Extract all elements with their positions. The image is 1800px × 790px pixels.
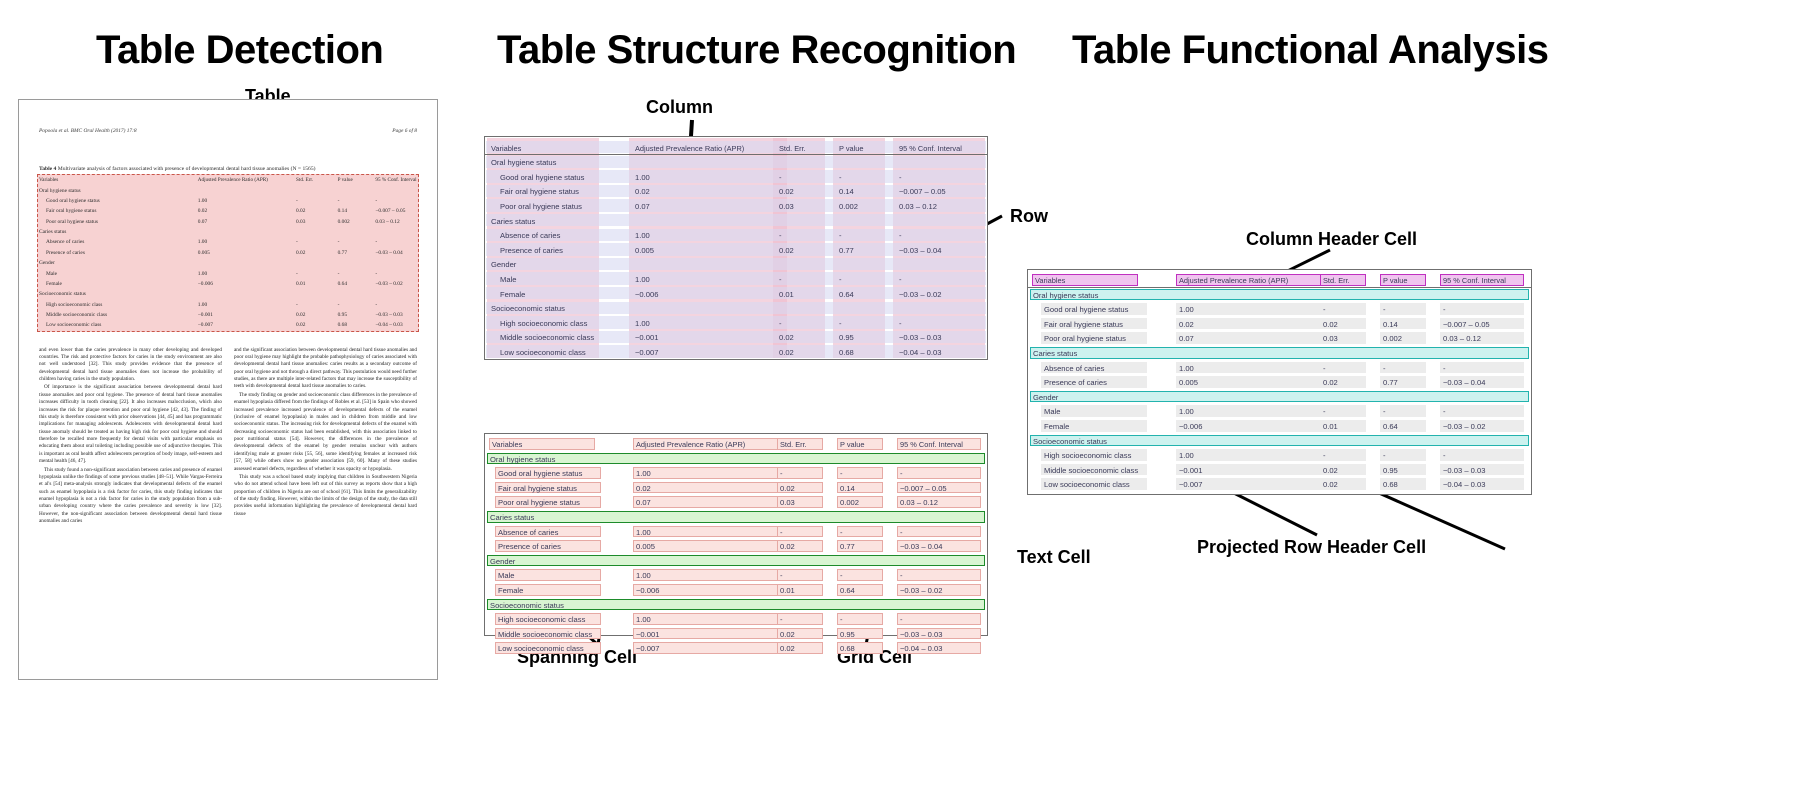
body-paragraph: Of importance is the significant associa… <box>39 384 222 465</box>
grid-cell <box>198 258 296 268</box>
grid-cell <box>1440 405 1524 417</box>
text-cell-label: −0.03 – 0.04 <box>900 542 942 551</box>
row-band <box>486 156 986 168</box>
projected-row-header-cell: Socioeconomic status <box>491 304 565 313</box>
text-cell-label: - <box>780 528 783 537</box>
grid-cell: 1.00 <box>198 237 296 247</box>
grid-cell-label: - <box>1383 305 1386 314</box>
grid-cell <box>1380 449 1426 461</box>
text-cell-label: −0.03 – 0.02 <box>900 586 942 595</box>
grid-cell: 0.03 <box>779 202 794 211</box>
column-header-cell: Std. Err. <box>296 175 338 185</box>
column-header-cell-label: Adjusted Prevalence Ratio (APR) <box>636 440 745 449</box>
table-row: Absence of caries1.00--- <box>39 237 417 247</box>
text-cell-label: −0.001 <box>636 630 659 639</box>
column-header-cell: Adjusted Prevalence Ratio (APR) <box>198 175 296 185</box>
text-cell-label: Fair oral hygiene status <box>498 484 577 493</box>
text-cell-label: 0.02 <box>780 630 795 639</box>
grid-cell <box>198 185 296 195</box>
grid-cell <box>375 289 417 299</box>
projected-row-header-cell-label: Socioeconomic status <box>1033 437 1107 446</box>
grid-cell: - <box>296 268 338 278</box>
projected-row-header-cell-label: Gender <box>1033 393 1058 402</box>
text-cell-label: - <box>780 615 783 624</box>
grid-cell: Fair oral hygiene status <box>500 187 579 196</box>
text-cell-label: 0.77 <box>840 542 855 551</box>
table-row: VariablesAdjusted Prevalence Ratio (APR)… <box>39 175 417 185</box>
grid-cell <box>1176 449 1326 461</box>
row-band <box>486 272 986 284</box>
grid-cell: 0.02 <box>779 246 794 255</box>
text-cell <box>633 482 783 494</box>
grid-cell <box>198 227 296 237</box>
projected-row-header-cell: Caries status <box>491 217 535 226</box>
text-cell <box>897 613 981 625</box>
text-cell <box>633 569 783 581</box>
grid-cell-label: - <box>1323 305 1326 314</box>
grid-cell-label: 0.02 <box>1323 480 1338 489</box>
header-rule <box>485 154 987 155</box>
grid-cell: 0.95 <box>338 310 376 320</box>
text-cell-label: −0.007 – 0.05 <box>900 484 947 493</box>
body-paragraph: and even lower than the caries prevalenc… <box>39 347 222 384</box>
grid-cell-label: 1.00 <box>1179 364 1194 373</box>
grid-cell-label: −0.03 – 0.02 <box>1443 422 1485 431</box>
grid-cell: - <box>779 231 782 240</box>
grid-cell-label: - <box>1443 364 1446 373</box>
annotation-row: Row <box>1010 206 1048 227</box>
grid-cell: 0.07 <box>635 202 650 211</box>
text-cell-label: 0.07 <box>636 498 651 507</box>
document-body-text: and even lower than the caries prevalenc… <box>39 347 417 527</box>
grid-cell: - <box>296 299 338 309</box>
grid-cell: 0.002 <box>839 202 858 211</box>
projected-row-header-cell-label: Oral hygiene status <box>1033 291 1098 300</box>
panel-title-table-functional-analysis: Table Functional Analysis <box>1072 28 1548 73</box>
text-cell <box>837 613 883 625</box>
grid-cell: 0.03 <box>296 216 338 226</box>
column-header-cell: 95 % Conf. Interval <box>899 144 962 153</box>
text-cell-label: Absence of caries <box>498 528 558 537</box>
grid-cell: −0.03 – 0.02 <box>899 290 941 299</box>
text-cell <box>777 526 823 538</box>
grid-cell: - <box>899 173 902 182</box>
grid-cell-label: 0.14 <box>1383 320 1398 329</box>
grid-cell <box>1440 362 1524 374</box>
header-rule <box>1028 287 1531 288</box>
grid-cell-label: 1.00 <box>1179 451 1194 460</box>
text-cell-label: −0.03 – 0.03 <box>900 630 942 639</box>
grid-cell: 0.14 <box>839 187 854 196</box>
table-row: Good oral hygiene status1.00--- <box>39 196 417 206</box>
grid-cell: −0.006 <box>635 290 658 299</box>
body-paragraph: This study was a school based study impl… <box>234 474 417 518</box>
text-cell <box>837 569 883 581</box>
column-header-cell-label: Variables <box>1035 276 1065 285</box>
column-header-cell: P value <box>338 175 376 185</box>
text-cell-label: 0.02 <box>780 644 795 653</box>
grid-cell: 0.02 <box>296 310 338 320</box>
projected-row-header-cell: Oral hygiene status <box>491 158 556 167</box>
table-row: Gender <box>39 258 417 268</box>
grid-cell: 1.00 <box>198 196 296 206</box>
grid-cell: −0.001 <box>635 333 658 342</box>
grid-cell: 0.95 <box>839 333 854 342</box>
grid-cell-label: Fair oral hygiene status <box>1044 320 1123 329</box>
text-cell-label: 1.00 <box>636 528 651 537</box>
grid-cell: 0.005 <box>198 248 296 258</box>
grid-cell: - <box>375 299 417 309</box>
text-cell <box>777 569 823 581</box>
grid-cell: - <box>375 237 417 247</box>
text-cell-label: Middle socioeconomic class <box>498 630 592 639</box>
document-body-column-left: and even lower than the caries prevalenc… <box>39 347 222 527</box>
grid-cell: - <box>839 173 842 182</box>
text-cell-label: - <box>780 469 783 478</box>
grid-cell-label: Middle socioeconomic class <box>1044 466 1138 475</box>
text-cell-label: 0.64 <box>840 586 855 595</box>
grid-cell: Middle socioeconomic class <box>500 333 594 342</box>
table-row: Fair oral hygiene status0.020.020.14−0.0… <box>39 206 417 216</box>
projected-row-header-cell: Caries status <box>39 227 198 237</box>
table-row: Oral hygiene status <box>39 185 417 195</box>
text-cell <box>897 467 981 479</box>
grid-cell: 1.00 <box>635 173 650 182</box>
projected-row-header-cell <box>1030 289 1529 301</box>
column-header-cell: Variables <box>39 175 198 185</box>
column-header-cell-label: Adjusted Prevalence Ratio (APR) <box>1179 276 1288 285</box>
panel-title-table-detection: Table Detection <box>96 28 383 73</box>
grid-cell: −0.007 <box>635 348 658 357</box>
grid-cell: −0.04 – 0.03 <box>375 320 417 330</box>
grid-cell <box>198 289 296 299</box>
text-cell-label: Male <box>498 571 514 580</box>
grid-cell: Middle socioeconomic class <box>39 310 198 320</box>
structure-recognition-cells-table: VariablesAdjusted Prevalence Ratio (APR)… <box>484 433 988 636</box>
grid-cell-label: 0.03 – 0.12 <box>1443 334 1481 343</box>
grid-cell: 0.03 – 0.12 <box>375 216 417 226</box>
grid-cell <box>1380 362 1426 374</box>
grid-cell <box>1176 318 1326 330</box>
text-cell <box>837 526 883 538</box>
text-cell-label: - <box>900 571 903 580</box>
grid-cell: 0.01 <box>296 279 338 289</box>
grid-cell-label: 1.00 <box>1179 407 1194 416</box>
text-cell-label: - <box>780 571 783 580</box>
table-row: Socioeconomic status <box>39 289 417 299</box>
grid-cell: Low socioeconomic class <box>39 320 198 330</box>
text-cell-label: 0.02 <box>780 484 795 493</box>
text-cell <box>777 613 823 625</box>
text-cell-label: - <box>900 528 903 537</box>
structure-recognition-rows-columns-table: VariablesAdjusted Prevalence Ratio (APR)… <box>484 136 988 360</box>
grid-cell: Poor oral hygiene status <box>39 216 198 226</box>
grid-cell: - <box>296 196 338 206</box>
grid-cell: Female <box>39 279 198 289</box>
grid-cell <box>1380 303 1426 315</box>
column-header-cell-label: 95 % Conf. Interval <box>900 440 963 449</box>
grid-cell-label: - <box>1443 305 1446 314</box>
grid-cell <box>375 258 417 268</box>
grid-cell-label: −0.001 <box>1179 466 1202 475</box>
text-cell-label: 0.95 <box>840 630 855 639</box>
annotation-text-cell: Text Cell <box>1017 547 1091 568</box>
body-paragraph: This study found a non-significant assoc… <box>39 467 222 526</box>
grid-cell <box>296 227 338 237</box>
grid-cell: - <box>899 275 902 284</box>
grid-cell: 0.64 <box>338 279 376 289</box>
spanning-cell <box>487 555 985 567</box>
row-band <box>486 258 986 270</box>
text-cell-label: −0.007 <box>636 644 659 653</box>
text-cell-label: Female <box>498 586 523 595</box>
grid-cell <box>296 258 338 268</box>
grid-cell <box>338 258 376 268</box>
document-body-column-right: and the significant association between … <box>234 347 417 527</box>
grid-cell: 0.02 <box>198 206 296 216</box>
text-cell-label: −0.006 <box>636 586 659 595</box>
grid-cell <box>1176 332 1326 344</box>
document-running-head: Popoola et al. BMC Oral Health (2017) 17… <box>39 128 417 134</box>
grid-cell-label: 0.01 <box>1323 422 1338 431</box>
text-cell-label: Presence of caries <box>498 542 561 551</box>
text-cell-label: - <box>840 571 843 580</box>
grid-cell: - <box>839 319 842 328</box>
panel-title-table-structure-recognition: Table Structure Recognition <box>497 28 1016 73</box>
grid-cell-label: Absence of caries <box>1044 364 1104 373</box>
grid-cell: - <box>899 231 902 240</box>
rows-columns-canvas: VariablesAdjusted Prevalence Ratio (APR)… <box>485 137 987 359</box>
grid-cell: - <box>839 275 842 284</box>
text-cell <box>633 540 783 552</box>
text-cell-label: Poor oral hygiene status <box>498 498 580 507</box>
projected-row-header-cell <box>1030 347 1529 359</box>
grid-cell-label: −0.006 <box>1179 422 1202 431</box>
grid-cell: 0.02 <box>779 187 794 196</box>
grid-cell: 0.77 <box>338 248 376 258</box>
grid-cell: 0.02 <box>296 320 338 330</box>
table-caption-text: Multivariate analysis of factors associa… <box>56 166 315 172</box>
text-cell-label: 1.00 <box>636 469 651 478</box>
grid-cell: 0.68 <box>338 320 376 330</box>
spanning-cell-label: Socioeconomic status <box>490 601 564 610</box>
grid-cell: Presence of caries <box>500 246 563 255</box>
grid-cell: 0.02 <box>779 333 794 342</box>
detected-table-region: VariablesAdjusted Prevalence Ratio (APR)… <box>39 175 417 331</box>
table-row: Female−0.0060.010.64−0.03 – 0.02 <box>39 279 417 289</box>
grid-cell-label: - <box>1443 407 1446 416</box>
grid-cell <box>1440 303 1524 315</box>
grid-cell: 0.005 <box>635 246 654 255</box>
grid-cell: 1.00 <box>198 299 296 309</box>
grid-cell: 0.68 <box>839 348 854 357</box>
grid-cell: 0.01 <box>779 290 794 299</box>
grid-cell-label: Poor oral hygiene status <box>1044 334 1126 343</box>
grid-cell-label: 0.02 <box>1323 320 1338 329</box>
grid-cell-label: 0.005 <box>1179 378 1198 387</box>
grid-cell: 0.02 <box>296 248 338 258</box>
grid-cell <box>1320 449 1366 461</box>
grid-cell: - <box>375 196 417 206</box>
text-cell <box>633 613 783 625</box>
column-header-cell-label: P value <box>1383 276 1408 285</box>
document-page: Popoola et al. BMC Oral Health (2017) 17… <box>18 99 438 680</box>
grid-cell <box>1320 405 1366 417</box>
grid-cell <box>296 289 338 299</box>
grid-cell: 0.03 – 0.12 <box>899 202 937 211</box>
column-header-cell: 95 % Conf. Interval <box>375 175 417 185</box>
grid-cell-label: - <box>1323 407 1326 416</box>
text-cell-label: 1.00 <box>636 615 651 624</box>
grid-cell-label: 0.02 <box>1323 466 1338 475</box>
grid-cell: −0.03 – 0.03 <box>899 333 941 342</box>
annotation-column-header-cell: Column Header Cell <box>1246 229 1417 250</box>
grid-cell: Female <box>500 290 525 299</box>
text-cell-label: 0.02 <box>636 484 651 493</box>
text-cell <box>837 467 883 479</box>
row-band <box>486 214 986 226</box>
grid-cell: Fair oral hygiene status <box>39 206 198 216</box>
grid-cell: 1.00 <box>635 231 650 240</box>
column-header-cell-label: 95 % Conf. Interval <box>1443 276 1506 285</box>
text-cell <box>777 467 823 479</box>
text-cell-label: Low socioeconomic class <box>498 644 584 653</box>
grid-cell: −0.03 – 0.03 <box>375 310 417 320</box>
body-paragraph: and the significant association between … <box>234 347 417 391</box>
document-table-caption: Table 4 Multivariate analysis of factors… <box>39 166 417 173</box>
table-caption-number: Table 4 <box>39 166 56 172</box>
grid-cell-label: Good oral hygiene status <box>1044 305 1128 314</box>
grid-cell: 1.00 <box>635 319 650 328</box>
grid-cell <box>1176 376 1326 388</box>
grid-cell-label: - <box>1383 451 1386 460</box>
grid-cell: 1.00 <box>635 275 650 284</box>
text-cell-label: 0.03 <box>780 498 795 507</box>
grid-cell: High socioeconomic class <box>39 299 198 309</box>
grid-cell: High socioeconomic class <box>500 319 587 328</box>
grid-cell: - <box>899 319 902 328</box>
annotation-column: Column <box>646 97 713 118</box>
grid-cell <box>375 185 417 195</box>
grid-cell: - <box>375 268 417 278</box>
grid-cell: −0.007 – 0.05 <box>375 206 417 216</box>
grid-cell: Poor oral hygiene status <box>500 202 582 211</box>
grid-cell: 0.64 <box>839 290 854 299</box>
grid-cell <box>1380 405 1426 417</box>
text-cell-label: 0.002 <box>840 498 859 507</box>
body-paragraph: The study finding on gender and socioeco… <box>234 392 417 473</box>
grid-cell: - <box>779 173 782 182</box>
spanning-cell-label: Oral hygiene status <box>490 455 555 464</box>
text-cell-label: - <box>900 615 903 624</box>
text-cell <box>633 467 783 479</box>
grid-cell: Male <box>39 268 198 278</box>
text-cell-label: 0.03 – 0.12 <box>900 498 938 507</box>
text-cell-label: - <box>840 615 843 624</box>
text-cell-label: 0.01 <box>780 586 795 595</box>
grid-cell-label: High socioeconomic class <box>1044 451 1131 460</box>
text-cell <box>897 569 981 581</box>
column-header-cell: Std. Err. <box>779 144 806 153</box>
grid-cell: - <box>338 196 376 206</box>
grid-cell: 0.02 <box>635 187 650 196</box>
table-row: Presence of caries0.0050.020.77−0.03 – 0… <box>39 248 417 258</box>
grid-cell: Low socioeconomic class <box>500 348 586 357</box>
column-header-cell: Variables <box>491 144 521 153</box>
grid-cell <box>1176 303 1326 315</box>
grid-cell: 1.00 <box>198 268 296 278</box>
grid-cell: −0.007 <box>198 320 296 330</box>
text-cell <box>633 526 783 538</box>
grid-cell-label: 0.002 <box>1383 334 1402 343</box>
spanning-cell <box>487 453 985 465</box>
grid-cell: - <box>779 275 782 284</box>
grid-cell: - <box>779 319 782 328</box>
table-row: Poor oral hygiene status0.070.030.0020.0… <box>39 216 417 226</box>
table-row: Middle socioeconomic class−0.0010.020.95… <box>39 310 417 320</box>
grid-cell <box>338 289 376 299</box>
grid-cell: - <box>338 268 376 278</box>
text-cell-label: 0.02 <box>780 542 795 551</box>
grid-cell-label: 1.00 <box>1179 305 1194 314</box>
grid-cell: - <box>338 299 376 309</box>
projected-row-header-cell: Gender <box>491 260 516 269</box>
projected-row-header-cell <box>1030 391 1529 403</box>
text-cell-label: - <box>840 469 843 478</box>
column-header-cell-label: Std. Err. <box>1323 276 1350 285</box>
spanning-cell-label: Caries status <box>490 513 534 522</box>
grid-cell <box>1320 303 1366 315</box>
grid-cell <box>296 185 338 195</box>
grid-cell-label: - <box>1383 364 1386 373</box>
grid-cell-label: Presence of caries <box>1044 378 1107 387</box>
column-header-cell-label: Std. Err. <box>780 440 807 449</box>
table-row: Low socioeconomic class−0.0070.020.68−0.… <box>39 320 417 330</box>
grid-cell: −0.03 – 0.02 <box>375 279 417 289</box>
grid-cell: 0.02 <box>296 206 338 216</box>
grid-cell <box>1440 449 1524 461</box>
grid-cell: Male <box>500 275 516 284</box>
grid-cell-label: Low socioeconomic class <box>1044 480 1130 489</box>
projected-row-header-cell: Oral hygiene status <box>39 185 198 195</box>
projected-row-header-cell: Socioeconomic status <box>39 289 198 299</box>
grid-cell: −0.03 – 0.04 <box>899 246 941 255</box>
text-cell-label: High socioeconomic class <box>498 615 585 624</box>
runhead-citation: Popoola et al. BMC Oral Health (2017) 17… <box>39 128 137 134</box>
grid-cell: - <box>839 231 842 240</box>
grid-cell-label: - <box>1323 451 1326 460</box>
grid-cell: - <box>296 237 338 247</box>
table-row: Male1.00--- <box>39 268 417 278</box>
grid-cell-label: −0.007 <box>1179 480 1202 489</box>
grid-cell-label: −0.03 – 0.03 <box>1443 466 1485 475</box>
functional-analysis-table: VariablesAdjusted Prevalence Ratio (APR)… <box>1027 269 1532 495</box>
grid-cell-label: 0.03 <box>1323 334 1338 343</box>
grid-cell-label: - <box>1383 407 1386 416</box>
grid-cell: −0.04 – 0.03 <box>899 348 941 357</box>
text-cell-label: - <box>900 469 903 478</box>
grid-cell-label: Female <box>1044 422 1069 431</box>
text-cell-label: Good oral hygiene status <box>498 469 582 478</box>
grid-cell-label: - <box>1323 364 1326 373</box>
grid-cell <box>1320 362 1366 374</box>
grid-cell-label: −0.007 – 0.05 <box>1443 320 1490 329</box>
grid-cell: −0.007 – 0.05 <box>899 187 946 196</box>
grid-cell-label: - <box>1443 451 1446 460</box>
text-cell-label: 0.14 <box>840 484 855 493</box>
text-cell-label: 0.68 <box>840 644 855 653</box>
grid-cell-label: 0.02 <box>1179 320 1194 329</box>
